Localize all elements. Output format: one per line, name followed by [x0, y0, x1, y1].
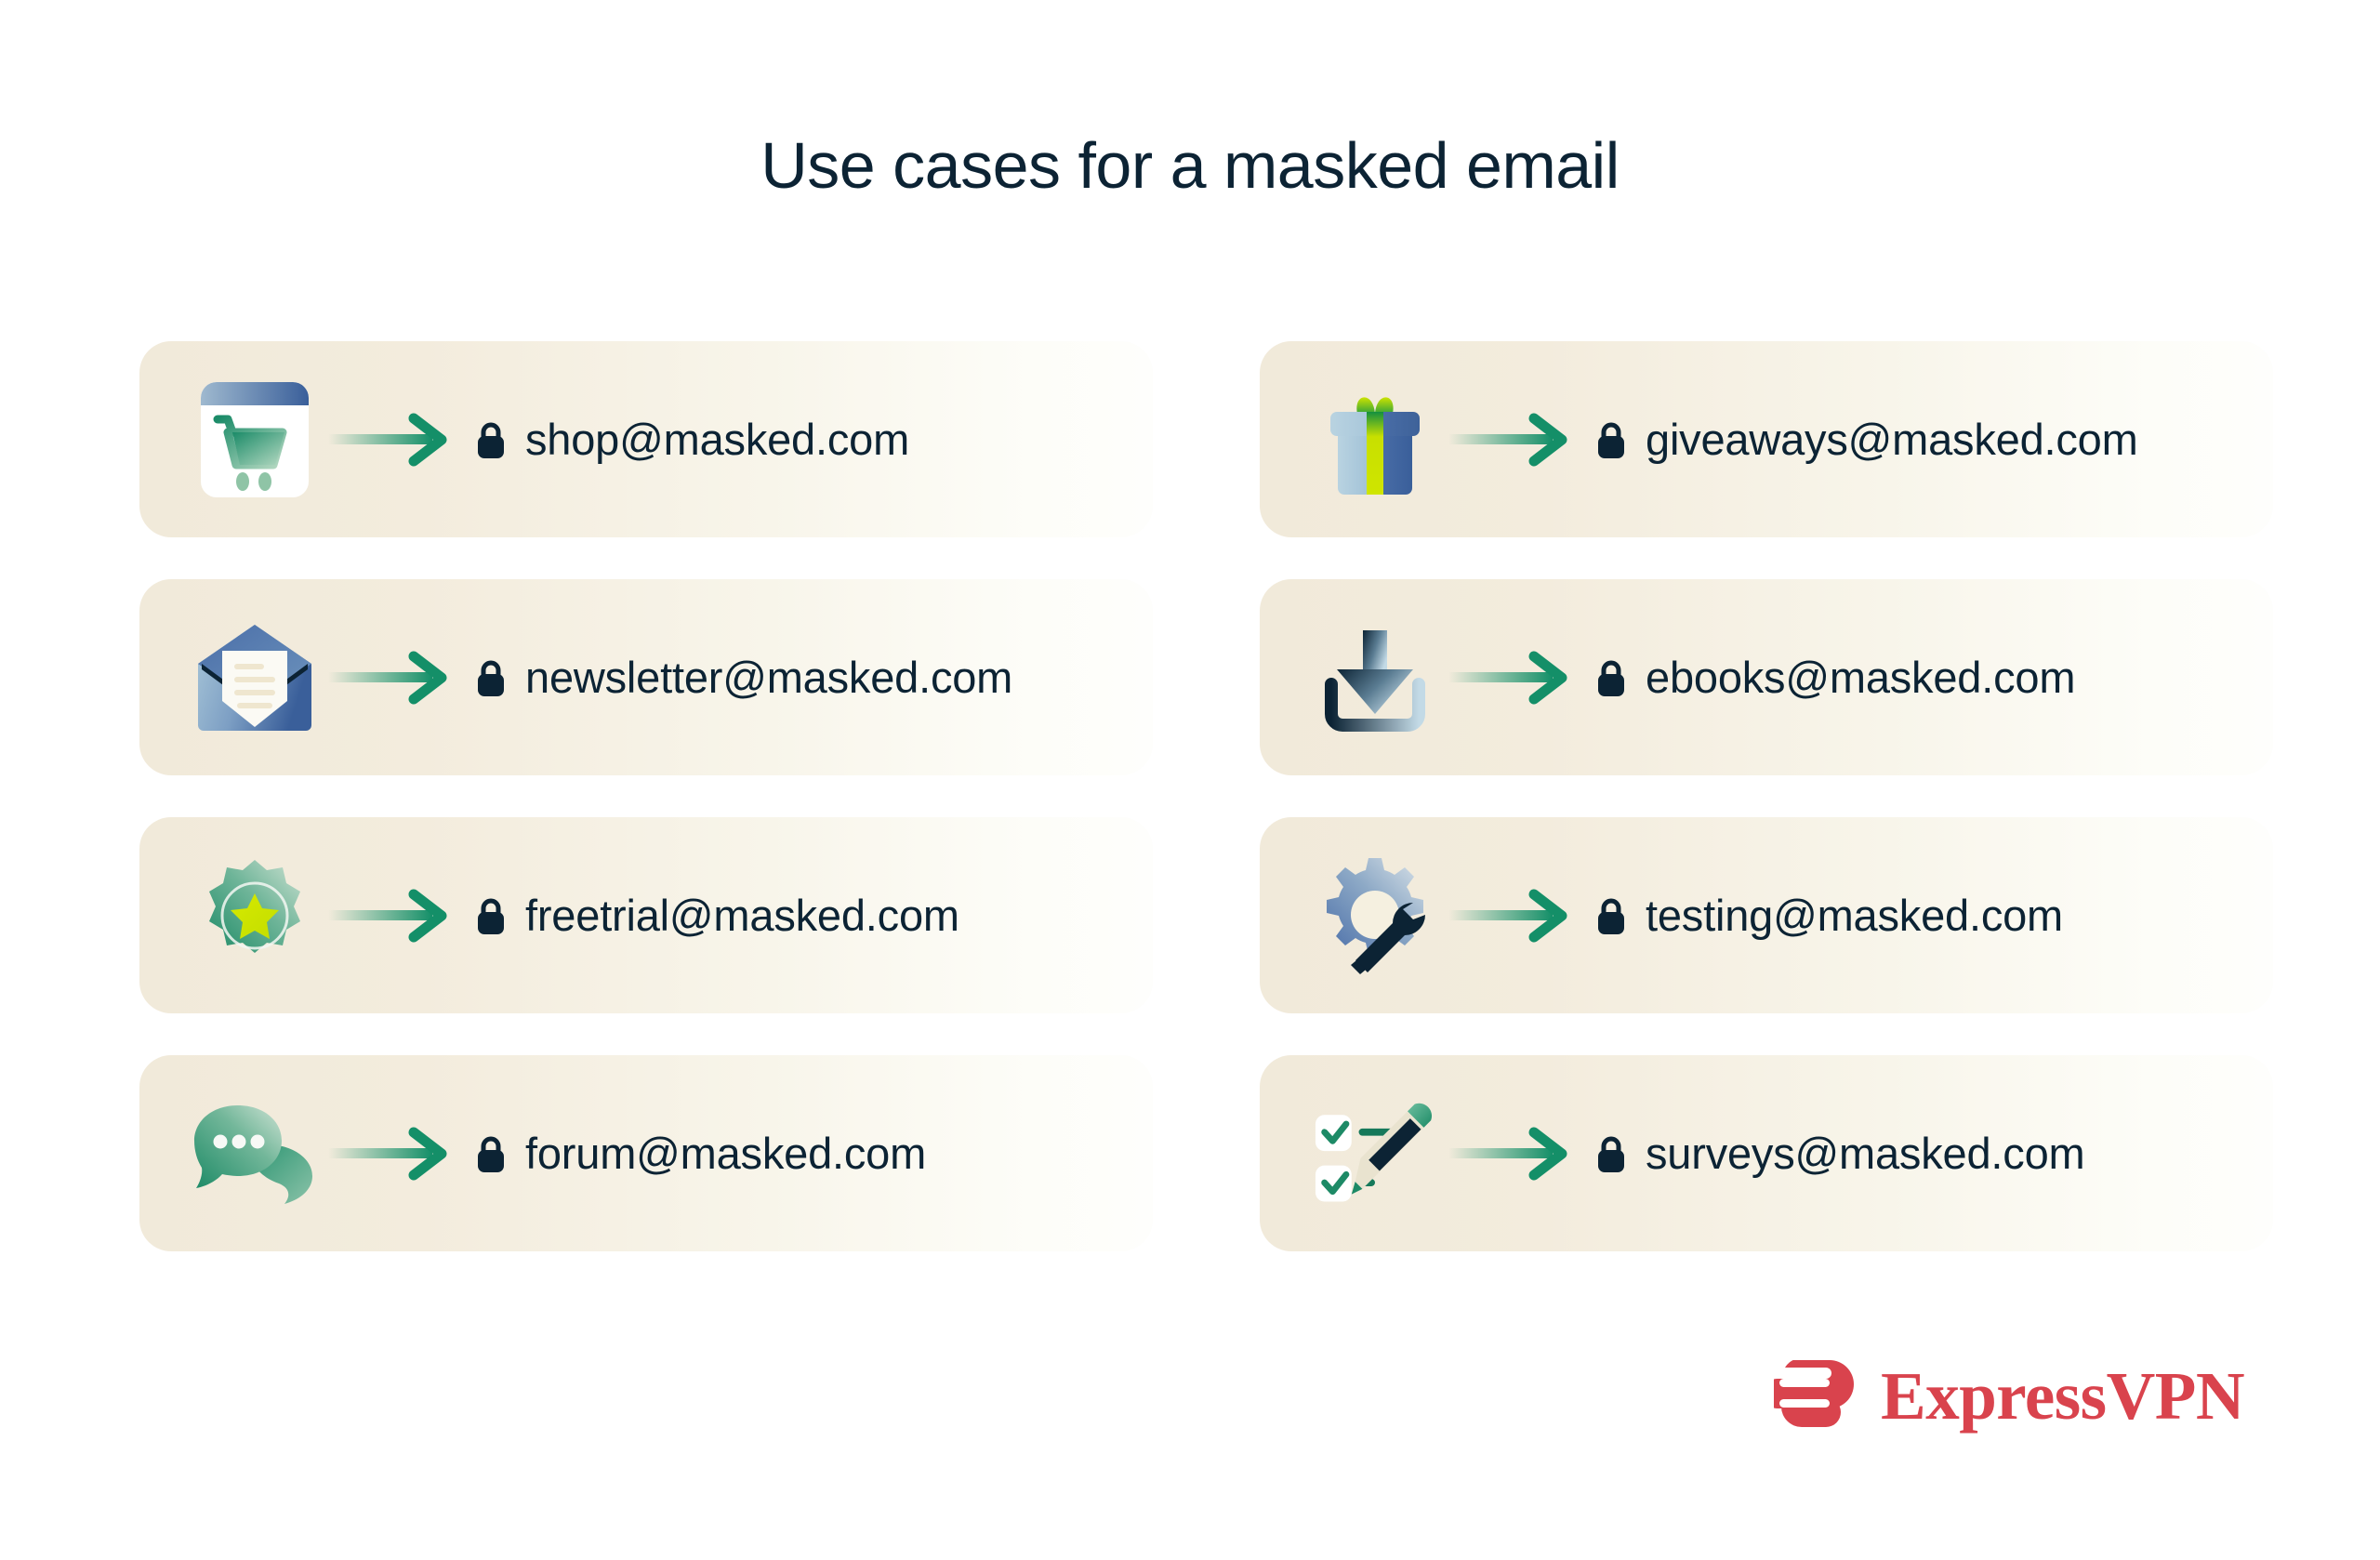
arrow-right-icon: [320, 649, 459, 707]
email-address-text: freetrial@masked.com: [525, 893, 959, 937]
padlock-icon: [1593, 895, 1630, 936]
email-address-text: testing@masked.com: [1646, 893, 2063, 937]
use-case-card: forum@masked.com: [139, 1055, 1153, 1251]
padlock-icon: [1593, 419, 1630, 460]
padlock-icon: [472, 657, 509, 698]
shopping-cart-browser-icon: [193, 378, 316, 501]
email-address-text: ebooks@masked.com: [1646, 655, 2075, 699]
padlock-icon: [1593, 1133, 1630, 1174]
chat-bubbles-icon: [193, 1092, 316, 1215]
use-case-card: giveaways@masked.com: [1260, 341, 2273, 537]
open-envelope-letter-icon: [193, 616, 316, 739]
masked-email: testing@masked.com: [1593, 893, 2063, 937]
badge-star-icon: [193, 854, 316, 977]
padlock-icon: [472, 895, 509, 936]
use-case-card: shop@masked.com: [139, 341, 1153, 537]
use-case-card: surveys@masked.com: [1260, 1055, 2273, 1251]
email-address-text: surveys@masked.com: [1646, 1131, 2084, 1175]
arrow-right-icon: [1440, 411, 1580, 469]
arrow-right-icon: [1440, 649, 1580, 707]
download-arrow-icon: [1314, 616, 1436, 739]
masked-email: newsletter@masked.com: [472, 655, 1012, 699]
expressvpn-e-mark-icon: [1774, 1360, 1862, 1431]
masked-email: shop@masked.com: [472, 417, 909, 461]
masked-email: giveaways@masked.com: [1593, 417, 2138, 461]
masked-email: surveys@masked.com: [1593, 1131, 2084, 1175]
checklist-pencil-icon: [1314, 1092, 1436, 1215]
arrow-right-icon: [1440, 887, 1580, 945]
use-case-card: freetrial@masked.com: [139, 817, 1153, 1013]
email-address-text: giveaways@masked.com: [1646, 417, 2138, 461]
use-case-card: newsletter@masked.com: [139, 579, 1153, 775]
padlock-icon: [472, 419, 509, 460]
gear-wrench-icon: [1314, 854, 1436, 977]
use-case-card: ebooks@masked.com: [1260, 579, 2273, 775]
masked-email: ebooks@masked.com: [1593, 655, 2075, 699]
email-address-text: newsletter@masked.com: [525, 655, 1012, 699]
infographic-canvas: Use cases for a masked email: [0, 0, 2380, 1560]
email-address-text: shop@masked.com: [525, 417, 909, 461]
expressvpn-wordmark: ExpressVPN: [1881, 1362, 2244, 1430]
arrow-right-icon: [320, 411, 459, 469]
use-case-card-grid: shop@masked.com: [139, 341, 2273, 1251]
masked-email: freetrial@masked.com: [472, 893, 959, 937]
padlock-icon: [472, 1133, 509, 1174]
arrow-right-icon: [1440, 1125, 1580, 1183]
use-case-card: testing@masked.com: [1260, 817, 2273, 1013]
arrow-right-icon: [320, 1125, 459, 1183]
email-address-text: forum@masked.com: [525, 1131, 926, 1175]
padlock-icon: [1593, 657, 1630, 698]
masked-email: forum@masked.com: [472, 1131, 926, 1175]
gift-box-icon: [1314, 378, 1436, 501]
expressvpn-logo: ExpressVPN: [1774, 1360, 2244, 1431]
arrow-right-icon: [320, 887, 459, 945]
page-title: Use cases for a masked email: [0, 130, 2380, 202]
